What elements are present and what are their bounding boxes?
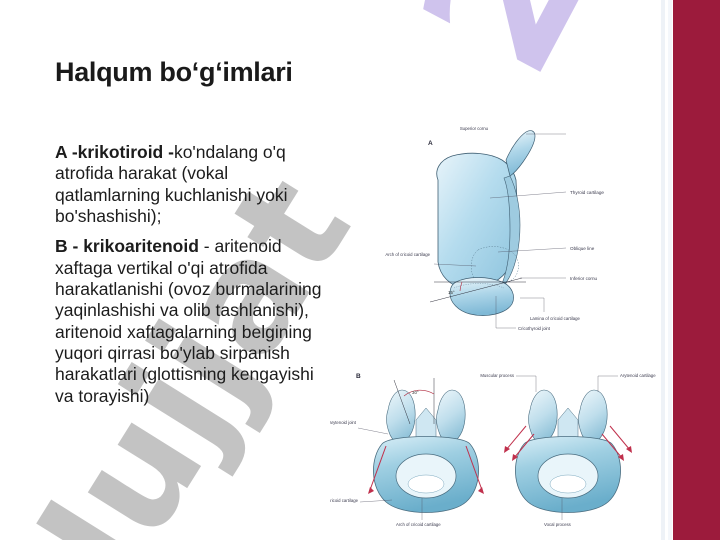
panel-b-left: 30° Cricoarytenoid joint Lamina of crico…	[330, 378, 484, 527]
arytenoid-right-shape	[437, 390, 466, 442]
paragraph-a-lead: A -krikotiroid -	[55, 142, 174, 162]
label-arch-cricoid-b: Arch of cricoid cartilage	[396, 522, 441, 527]
midline-ridge-left	[416, 408, 436, 440]
label-superior-cornu: Superior cornu	[460, 126, 489, 131]
label-lamina-cricoid-a: Lamina of cricoid cartilage	[530, 316, 581, 321]
label-arytenoid-cartilage: Arytenoid cartilage	[620, 373, 656, 378]
panel-a-marker: A	[428, 140, 433, 147]
cricoid-inner-left	[408, 475, 444, 493]
midline-ridge-right	[558, 408, 578, 440]
slide-canvas: Hujjat 24 Halqum bo‘g‘imlari A -krikotir…	[0, 0, 720, 540]
label-vocal-process: Vocal process	[544, 522, 571, 527]
panel-b-right: Muscular process Arytenoid cartilage Voc…	[480, 373, 656, 527]
label-lamina-cricoid-b: Lamina of cricoid cartilage	[330, 498, 359, 503]
thyroid-cartilage-shape	[437, 153, 518, 288]
panel-a-group: A 15°	[385, 126, 604, 331]
panel-a-angle: 15°	[448, 290, 455, 295]
arrowhead-left-1	[368, 487, 374, 494]
paragraph-b: B - krikoaritenoid - aritenoid xaftaga v…	[55, 236, 337, 407]
label-muscular-process: Muscular process	[480, 373, 514, 378]
label-cricoarytenoid-joint: Cricoarytenoid joint	[330, 420, 357, 425]
label-oblique-line: Oblique line	[570, 246, 595, 251]
panel-b-angle: 30°	[412, 390, 419, 395]
paragraph-a: A -krikotiroid -ko'ndalang o'q atrofida …	[55, 142, 337, 227]
cricoid-arch-shape	[450, 278, 514, 316]
label-thyroid-cartilage: Thyroid cartilage	[570, 190, 604, 195]
body-text-column: A -krikotiroid -ko'ndalang o'q atrofida …	[55, 142, 337, 416]
label-arch-cricoid-a: Arch of cricoid cartilage	[385, 252, 430, 257]
panel-b-marker: B	[356, 373, 361, 380]
accent-bar-right	[673, 0, 720, 540]
superior-cornu-shape	[506, 131, 535, 176]
cricoid-inner-right	[550, 475, 586, 493]
arytenoid-left-shape	[387, 390, 416, 442]
anatomy-figure: A 15°	[330, 20, 665, 530]
label-inferior-cornu: Inferior cornu	[570, 276, 598, 281]
paragraph-b-text: - aritenoid xaftaga vertikal o'qi atrofi…	[55, 236, 322, 405]
paragraph-b-lead: B - krikoaritenoid	[55, 236, 199, 256]
edge-strip-lighter	[668, 0, 672, 540]
label-cricothyroid-joint: Cricothyroid joint	[518, 326, 551, 331]
lead-cricoarytenoid-joint	[358, 428, 388, 434]
arytenoid-left-shape-2	[529, 390, 558, 442]
arrowhead-left-2	[478, 487, 484, 494]
panel-b-group: B 30°	[330, 373, 656, 527]
